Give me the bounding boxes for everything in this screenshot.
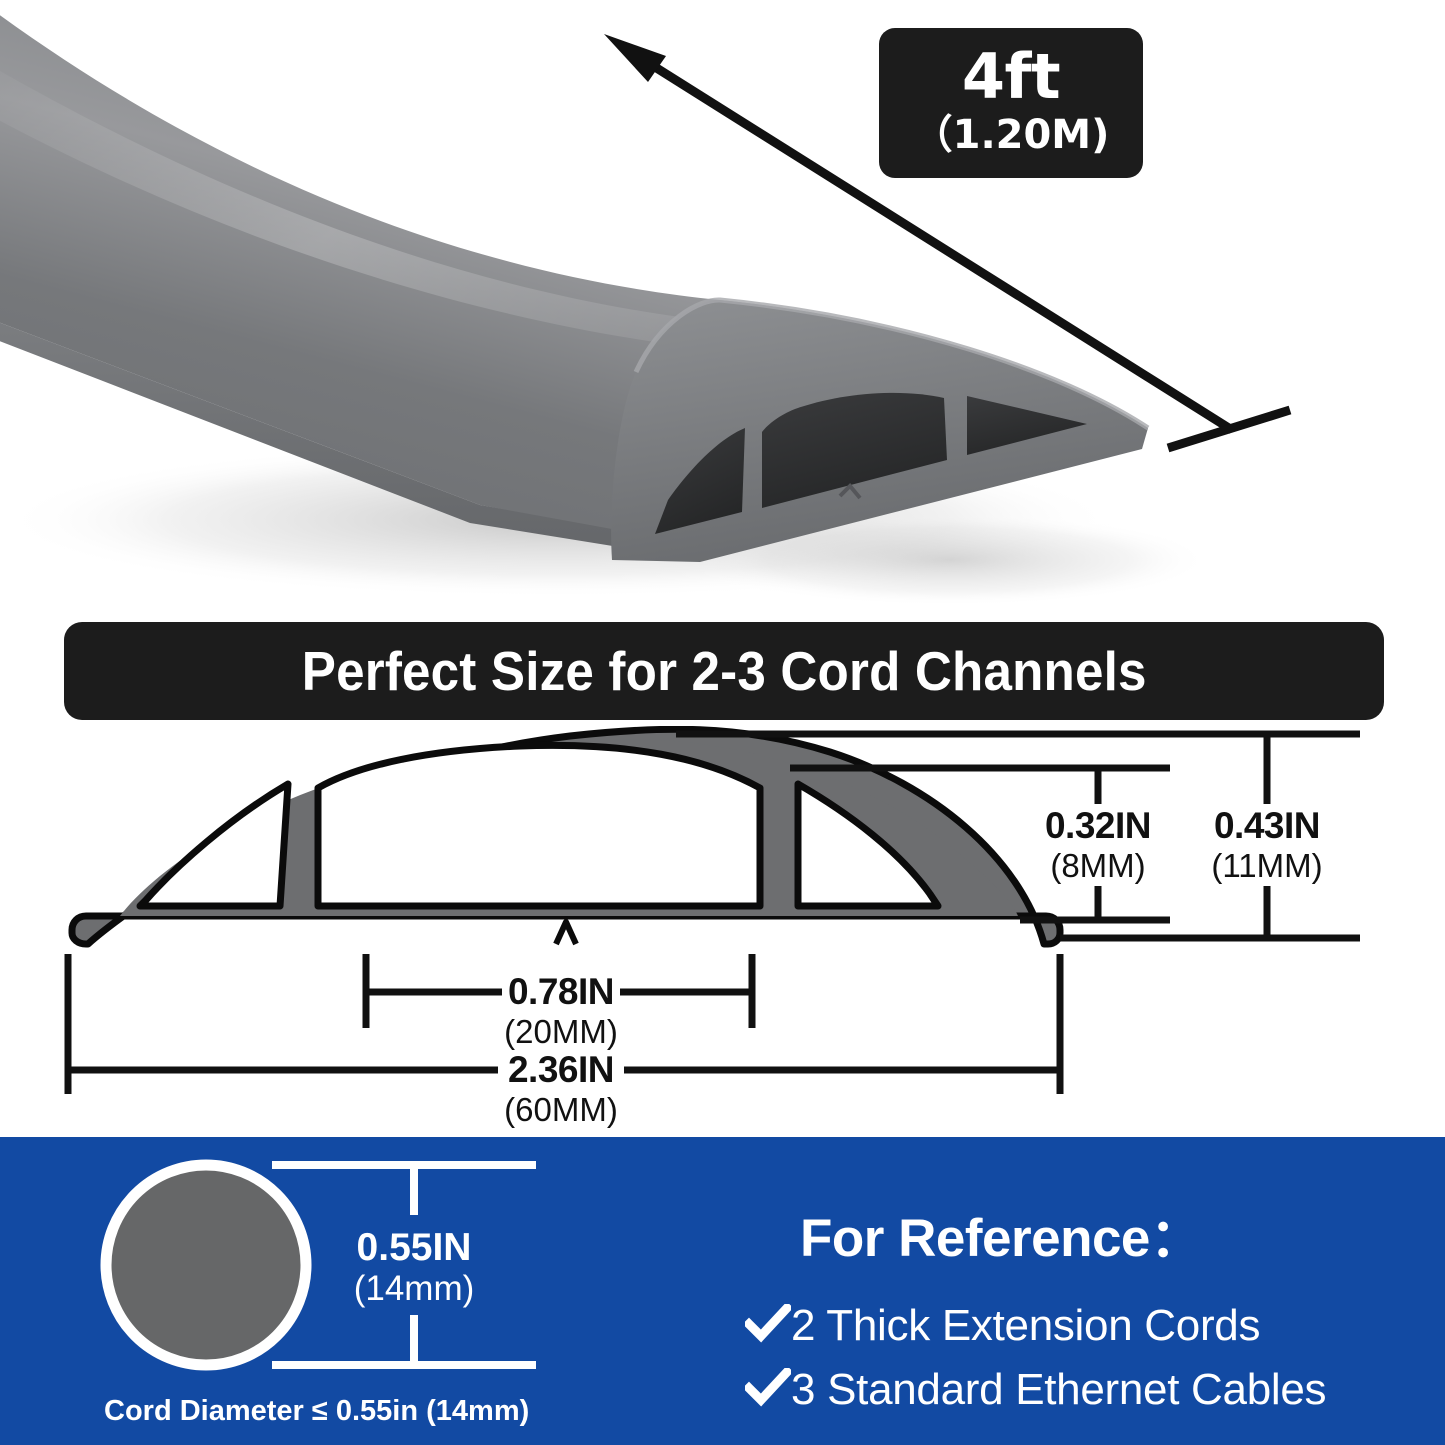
length-badge-metric: （1.20M) — [913, 110, 1110, 160]
hero-product-photo: 4ft （1.20M) — [0, 0, 1445, 612]
dim-032-metric-top: (8MM) — [1050, 847, 1145, 884]
dimension-label-overall-width: 2.36IN (60MM) — [504, 1049, 618, 1128]
dim-078-metric: (20MM) — [504, 1013, 618, 1050]
dim-236-metric: (60MM) — [504, 1091, 618, 1128]
dim-236-imperial: 2.36IN — [508, 1049, 614, 1090]
reference-list-item: 2 Thick Extension Cords — [745, 1301, 1260, 1351]
headline-banner: Perfect Size for 2-3 Cord Channels — [64, 622, 1384, 720]
check-icon — [745, 1304, 791, 1349]
cord-dimension-lines — [272, 1165, 536, 1365]
channel-left — [140, 784, 288, 906]
channel-center — [318, 745, 760, 906]
check-icon — [745, 1368, 791, 1413]
length-badge: 4ft （1.20M) — [879, 28, 1143, 178]
reference-item-label: 2 Thick Extension Cords — [791, 1301, 1260, 1351]
dim-043-imperial: 0.43IN — [1214, 805, 1320, 846]
product-infographic: 4ft （1.20M) Perfect Size for 2-3 Cord Ch… — [0, 0, 1445, 1445]
reference-list-item: 3 Standard Ethernet Cables — [745, 1365, 1326, 1415]
dim-078-imperial: 0.78IN — [508, 971, 614, 1012]
dimension-label-center-width: 0.78IN (20MM) — [504, 971, 618, 1050]
reference-item-label: 3 Standard Ethernet Cables — [791, 1365, 1326, 1415]
cord-diameter-caption: Cord Diameter ≤ 0.55in (14mm) — [104, 1395, 674, 1428]
dim-032-imperial-top: 0.32IN — [1045, 805, 1151, 846]
cord-circle — [106, 1165, 306, 1365]
length-badge-value: 4ft — [962, 46, 1060, 108]
dimension-label-outer-height: 0.43IN (11MM) — [1211, 805, 1322, 884]
reference-title: For Reference： — [800, 1196, 1202, 1272]
dim-043-metric: (11MM) — [1211, 847, 1322, 884]
product-3d-illustration — [0, 0, 1445, 612]
cross-section-diagram: 0.32IN (8MM) 0.32IN (8MM) 0.43IN (11MM) — [0, 726, 1445, 1136]
headline-text: Perfect Size for 2-3 Cord Channels — [302, 639, 1147, 703]
base-center-notch — [556, 922, 576, 944]
profile-outline — [72, 729, 1060, 944]
